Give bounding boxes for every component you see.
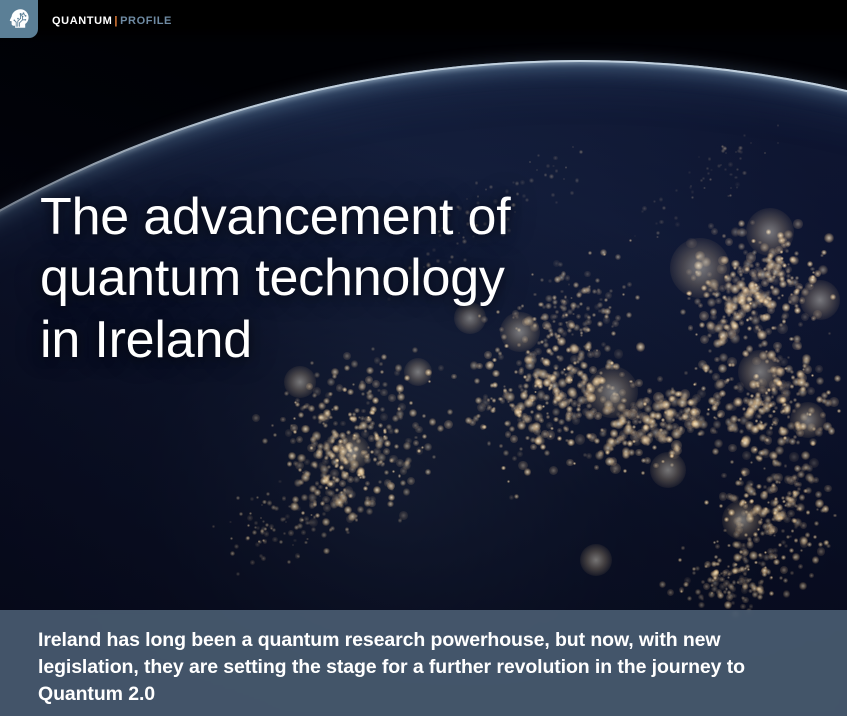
page-title: The advancement of quantum technology in…: [40, 187, 580, 371]
brand-wordmark[interactable]: QUANTUM|PROFILE: [52, 16, 172, 27]
brand-secondary-label: PROFILE: [120, 15, 172, 27]
page-title-line-2: quantum technology: [40, 248, 580, 309]
page-title-line-3: in Ireland: [40, 310, 580, 371]
page-title-line-1: The advancement of: [40, 187, 580, 248]
brand-separator: |: [112, 15, 120, 27]
brand-logo-badge[interactable]: [0, 0, 38, 38]
top-header-bar: QUANTUM|PROFILE: [0, 0, 847, 44]
brand-primary-label: QUANTUM: [52, 15, 112, 27]
caption-bar: Ireland has long been a quantum research…: [0, 610, 847, 716]
head-circuit-icon: [7, 7, 31, 31]
caption-text: Ireland has long been a quantum research…: [38, 627, 810, 708]
article-hero-page: QUANTUM|PROFILE The advancement of quant…: [0, 0, 847, 716]
